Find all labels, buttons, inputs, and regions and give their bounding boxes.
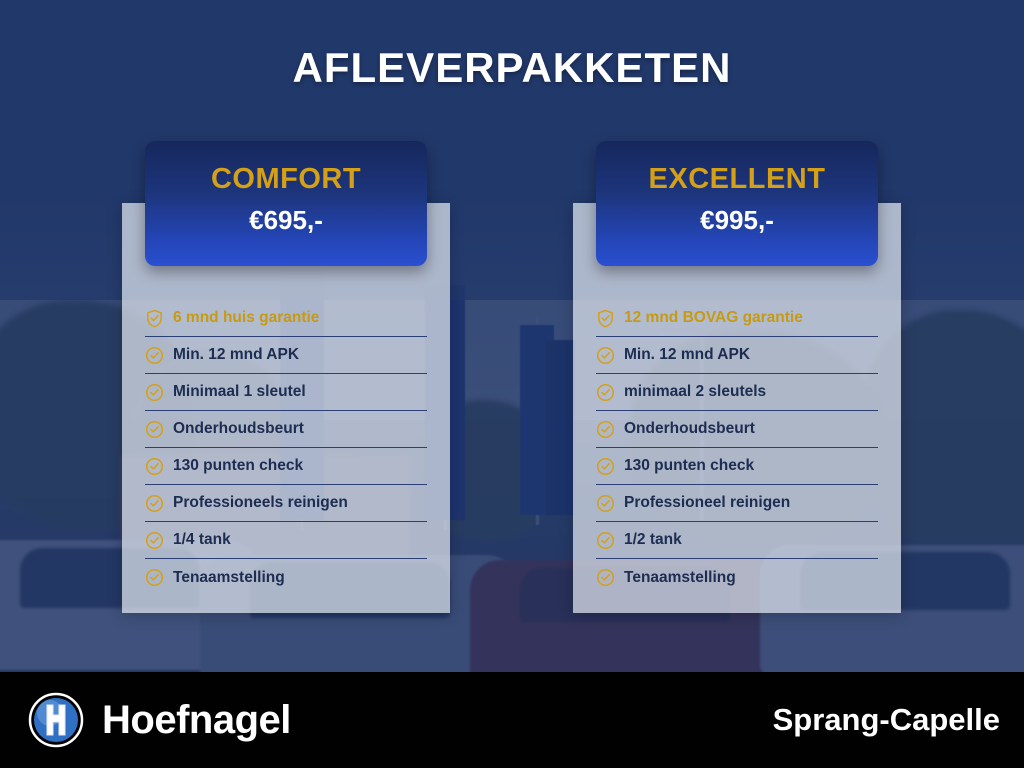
feature-item: 6 mnd huis garantie bbox=[145, 300, 427, 337]
circle-check-icon bbox=[596, 568, 615, 587]
feature-label: Professioneels reinigen bbox=[173, 494, 348, 512]
feature-item: Tenaamstelling bbox=[145, 559, 427, 596]
circle-check-icon bbox=[145, 346, 164, 365]
circle-check-icon bbox=[596, 494, 615, 513]
circle-check-icon bbox=[145, 531, 164, 550]
circle-check-icon bbox=[596, 457, 615, 476]
feature-item: Min. 12 mnd APK bbox=[596, 337, 878, 374]
feature-item: 12 mnd BOVAG garantie bbox=[596, 300, 878, 337]
feature-item: minimaal 2 sleutels bbox=[596, 374, 878, 411]
feature-item: Min. 12 mnd APK bbox=[145, 337, 427, 374]
feature-list: 6 mnd huis garantieMin. 12 mnd APKMinima… bbox=[122, 300, 450, 596]
feature-item: Onderhoudsbeurt bbox=[596, 411, 878, 448]
feature-label: Onderhoudsbeurt bbox=[173, 420, 304, 438]
shield-check-icon bbox=[596, 309, 615, 328]
package-header: COMFORT€695,- bbox=[145, 141, 427, 266]
circle-check-icon bbox=[596, 531, 615, 550]
feature-label: 130 punten check bbox=[173, 457, 303, 475]
circle-check-icon bbox=[145, 457, 164, 476]
feature-item: Tenaamstelling bbox=[596, 559, 878, 596]
feature-label: Minimaal 1 sleutel bbox=[173, 383, 306, 401]
circle-check-icon bbox=[596, 346, 615, 365]
feature-item: Minimaal 1 sleutel bbox=[145, 374, 427, 411]
circle-check-icon bbox=[145, 568, 164, 587]
circle-check-icon bbox=[145, 383, 164, 402]
package-name: COMFORT bbox=[145, 141, 427, 196]
circle-check-icon bbox=[596, 420, 615, 439]
feature-label: 12 mnd BOVAG garantie bbox=[624, 309, 803, 327]
feature-item: 1/4 tank bbox=[145, 522, 427, 559]
circle-check-icon bbox=[145, 420, 164, 439]
brand-name: Hoefnagel bbox=[102, 698, 291, 743]
feature-label: minimaal 2 sleutels bbox=[624, 383, 766, 401]
feature-label: Min. 12 mnd APK bbox=[624, 346, 750, 364]
feature-item: Onderhoudsbeurt bbox=[145, 411, 427, 448]
package-price: €995,- bbox=[596, 196, 878, 236]
package-header: EXCELLENT€995,- bbox=[596, 141, 878, 266]
package-price: €695,- bbox=[145, 196, 427, 236]
feature-item: Professioneel reinigen bbox=[596, 485, 878, 522]
feature-label: 6 mnd huis garantie bbox=[173, 309, 319, 327]
circle-check-icon bbox=[596, 383, 615, 402]
feature-label: Professioneel reinigen bbox=[624, 494, 790, 512]
feature-label: 1/2 tank bbox=[624, 531, 682, 549]
feature-item: Professioneels reinigen bbox=[145, 485, 427, 522]
feature-label: Tenaamstelling bbox=[173, 569, 285, 587]
feature-label: 1/4 tank bbox=[173, 531, 231, 549]
footer-bar: Hoefnagel Sprang-Capelle bbox=[0, 672, 1024, 768]
circle-check-icon bbox=[145, 494, 164, 513]
package-name: EXCELLENT bbox=[596, 141, 878, 196]
feature-item: 130 punten check bbox=[596, 448, 878, 485]
feature-item: 1/2 tank bbox=[596, 522, 878, 559]
feature-label: 130 punten check bbox=[624, 457, 754, 475]
hoefnagel-h-logo-icon bbox=[28, 692, 84, 748]
feature-label: Tenaamstelling bbox=[624, 569, 736, 587]
feature-list: 12 mnd BOVAG garantieMin. 12 mnd APKmini… bbox=[573, 300, 901, 596]
page-title: AFLEVERPAKKETEN bbox=[0, 44, 1024, 92]
shield-check-icon bbox=[145, 309, 164, 328]
feature-label: Onderhoudsbeurt bbox=[624, 420, 755, 438]
feature-label: Min. 12 mnd APK bbox=[173, 346, 299, 364]
feature-item: 130 punten check bbox=[145, 448, 427, 485]
location-name: Sprang-Capelle bbox=[773, 702, 1000, 738]
